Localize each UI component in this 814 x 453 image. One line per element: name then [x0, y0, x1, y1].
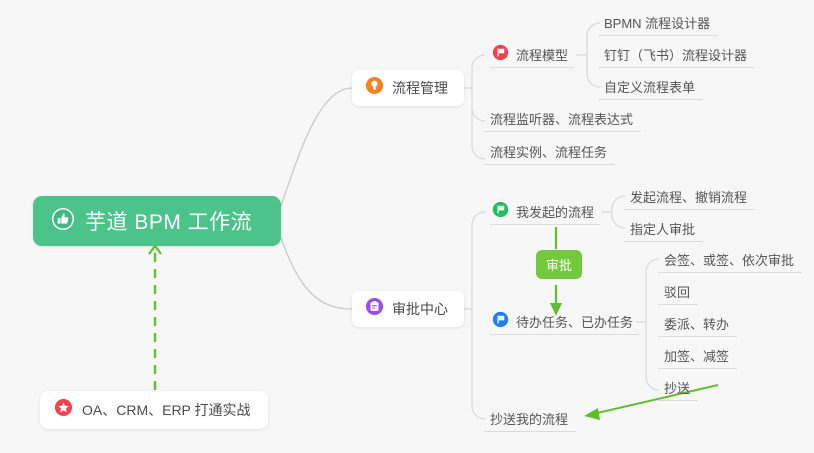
flag-icon: [492, 44, 509, 66]
branch-label-process-management: 流程管理: [392, 78, 448, 98]
root-label: 芋道 BPM 工作流: [85, 206, 252, 236]
node-label-process-model: 流程模型: [516, 45, 568, 64]
leaf-designated-approver[interactable]: 指定人审批: [624, 216, 703, 242]
node-todo-done-tasks[interactable]: 待办任务、已办任务: [490, 309, 639, 335]
node-label-my-initiated-processes: 我发起的流程: [516, 202, 594, 221]
bottom-node-integration[interactable]: OA、CRM、ERP 打通实战: [40, 391, 268, 429]
node-label-todo-done-tasks: 待办任务、已办任务: [516, 312, 633, 331]
leaf-start-cancel-process[interactable]: 发起流程、撤销流程: [624, 184, 755, 210]
arrow-bottom-head-icon: [149, 246, 161, 254]
thumbs-up-icon: [51, 207, 75, 236]
leaf-reject[interactable]: 驳回: [658, 279, 698, 305]
clipboard-icon: [365, 297, 384, 321]
link-approval-center-spine: [472, 212, 485, 419]
leaf-process-instance-task[interactable]: 流程实例、流程任务: [484, 139, 615, 165]
leaf-dingtalk-feishu-designer[interactable]: 钉钉（飞书）流程设计器: [598, 42, 755, 68]
root-node[interactable]: 芋道 BPM 工作流: [33, 196, 281, 246]
arrow-cc-flow: [593, 385, 718, 414]
node-my-initiated-processes[interactable]: 我发起的流程: [490, 199, 600, 225]
branch-node-approval-center[interactable]: 审批中心: [352, 291, 464, 327]
leaf-custom-process-form[interactable]: 自定义流程表单: [598, 74, 703, 100]
flag-icon: [492, 201, 509, 223]
flag-icon: [492, 311, 509, 333]
link-root-to-approval-center: [281, 238, 352, 309]
link-root-to-process-management: [281, 88, 352, 206]
arrow-cc-head-icon: [584, 408, 600, 420]
bottom-node-label: OA、CRM、ERP 打通实战: [82, 400, 251, 420]
leaf-countersign-orsign-sequential[interactable]: 会签、或签、依次审批: [658, 247, 802, 273]
leaf-cc-to-me-processes[interactable]: 抄送我的流程: [484, 406, 576, 432]
leaf-delegate-transfer[interactable]: 委派、转办: [658, 311, 737, 337]
lightbulb-icon: [365, 76, 384, 100]
leaf-cc[interactable]: 抄送: [658, 375, 698, 401]
leaf-process-listener-expression[interactable]: 流程监听器、流程表达式: [484, 106, 641, 132]
leaf-bpmn-designer[interactable]: BPMN 流程设计器: [598, 10, 718, 36]
branch-node-process-management[interactable]: 流程管理: [352, 70, 464, 106]
leaf-add-remove-sign[interactable]: 加签、减签: [658, 343, 737, 369]
note-approval[interactable]: 审批: [536, 250, 582, 279]
branch-label-approval-center: 审批中心: [392, 299, 448, 319]
mindmap-canvas: 芋道 BPM 工作流 流程管理 流程模型 BPMN 流程设计器 钉钉（飞书）流程…: [0, 0, 814, 453]
node-process-model[interactable]: 流程模型: [490, 42, 574, 68]
star-icon: [54, 398, 73, 422]
